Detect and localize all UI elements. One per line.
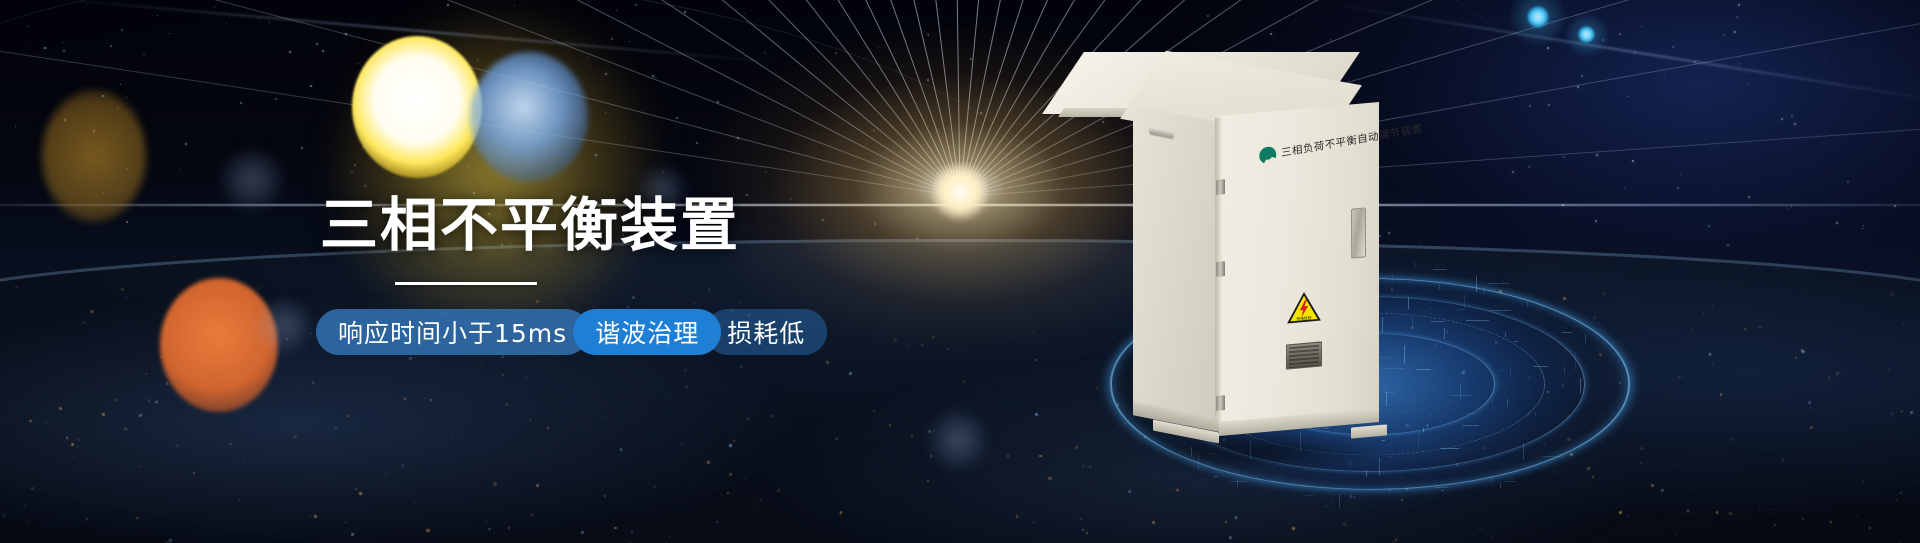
- feature-pill-harmonic-treatment[interactable]: 谐波治理: [573, 309, 721, 355]
- cabinet-door-handle: [1351, 207, 1366, 258]
- feature-pill-group: 响应时间小于15ms 谐波治理 损耗低: [316, 309, 940, 355]
- electrical-hazard-warning-icon: 有电危险: [1287, 291, 1321, 325]
- feature-pill-response-time[interactable]: 响应时间小于15ms: [316, 309, 589, 355]
- earth-surface: [0, 239, 1920, 543]
- cabinet-vent-grille: [1286, 341, 1322, 369]
- cabinet-hinge-upper: [1216, 179, 1225, 195]
- product-cabinet: 三相负荷不平衡自动调节装置 有电危险: [1055, 30, 1385, 460]
- cabinet-hinge-mid: [1216, 261, 1225, 277]
- hero-banner: 三相负荷不平衡自动调节装置 有电危险 三相不平衡装置 响应时间小于15ms 谐波…: [0, 0, 1920, 543]
- feature-pill-low-loss[interactable]: 损耗低: [705, 309, 827, 355]
- cabinet-hinge-lower: [1216, 395, 1225, 411]
- company-logo-icon: [1259, 145, 1277, 165]
- headline-divider: [395, 282, 537, 285]
- city-lights: [0, 239, 1920, 543]
- cabinet-side-panel: [1133, 105, 1219, 422]
- banner-copy-block: 三相不平衡装置 响应时间小于15ms 谐波治理 损耗低: [320, 196, 940, 355]
- banner-headline: 三相不平衡装置: [320, 196, 940, 254]
